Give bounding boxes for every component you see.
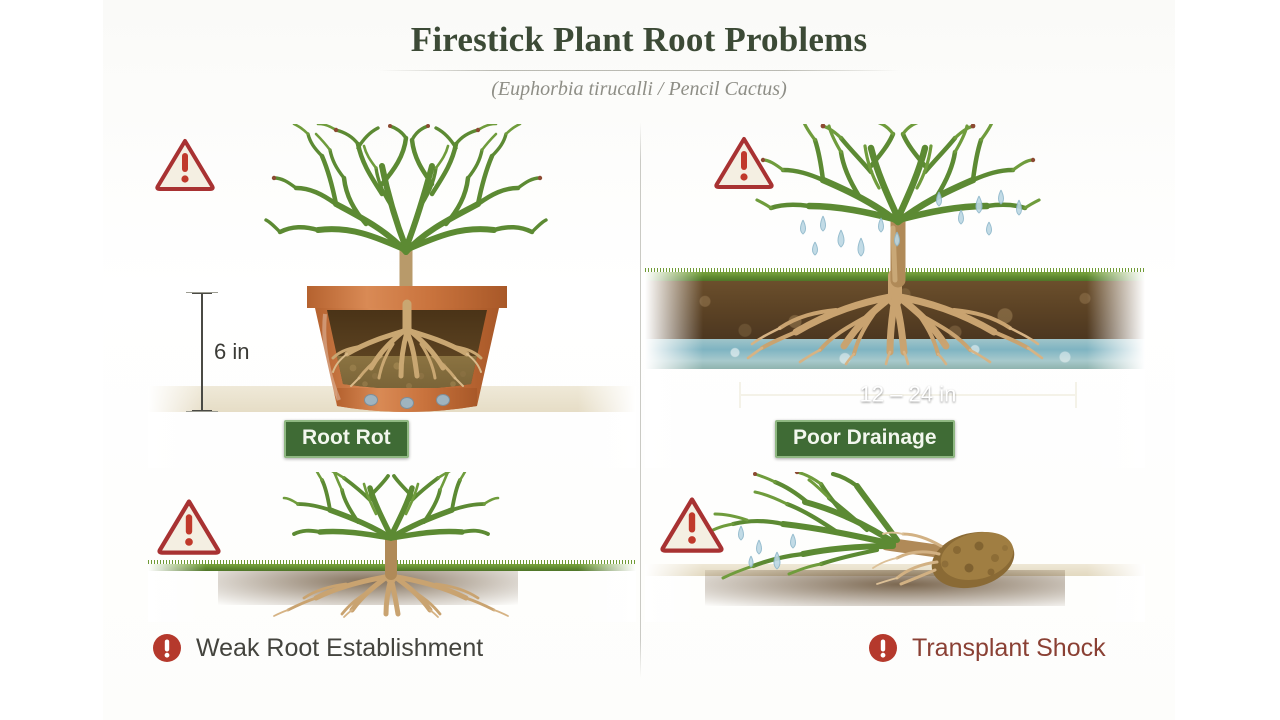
dimension-label-root-rot: 6 in xyxy=(214,339,249,365)
exclamation-circle-icon xyxy=(151,632,183,664)
page-subtitle: (Euphorbia tirucalli / Pencil Cactus) xyxy=(103,78,1175,101)
water-droplets-right xyxy=(927,186,1037,256)
firestick-plant-small xyxy=(286,478,496,574)
caption-label-transplant-shock: Transplant Shock xyxy=(912,634,1106,663)
dimension-label-poor-drainage: 12 – 24 in xyxy=(852,381,965,407)
header: Firestick Plant Root Problems (Euphorbia… xyxy=(103,0,1175,118)
caption-weak-root-establishment: Weak Root Establishment xyxy=(151,632,483,664)
terracotta-pot xyxy=(301,284,513,420)
panel-poor-drainage: 12 – 24 in Poor Drainage xyxy=(645,124,1145,468)
page-title: Firestick Plant Root Problems xyxy=(103,20,1175,60)
panel-root-rot: 6 in Root Rot xyxy=(148,124,636,468)
warning-triangle-icon xyxy=(156,496,222,556)
root-system-poor-drainage xyxy=(740,276,1050,366)
caption-transplant-shock: Transplant Shock xyxy=(867,632,1106,664)
infographic-canvas: Firestick Plant Root Problems (Euphorbia… xyxy=(0,0,1280,720)
vertical-divider xyxy=(640,122,641,678)
caption-label-weak-root: Weak Root Establishment xyxy=(196,634,483,663)
badge-poor-drainage[interactable]: Poor Drainage xyxy=(775,420,955,458)
water-droplets-left xyxy=(793,212,913,272)
warning-triangle-icon xyxy=(154,136,216,192)
water-droplets-transplant xyxy=(731,522,811,582)
dimension-root-rot: 6 in xyxy=(192,292,262,412)
warning-triangle-icon xyxy=(713,134,775,190)
infographic-panel: Firestick Plant Root Problems (Euphorbia… xyxy=(103,0,1175,720)
badge-root-rot[interactable]: Root Rot xyxy=(284,420,409,458)
dimension-poor-drainage: 12 – 24 in xyxy=(739,382,1077,408)
panel-weak-root-establishment: Weak Root Establishment xyxy=(148,472,636,678)
exclamation-circle-icon xyxy=(867,632,899,664)
warning-triangle-icon xyxy=(659,494,725,554)
title-divider xyxy=(379,70,899,71)
panel-transplant-shock: Transplant Shock xyxy=(645,472,1145,678)
